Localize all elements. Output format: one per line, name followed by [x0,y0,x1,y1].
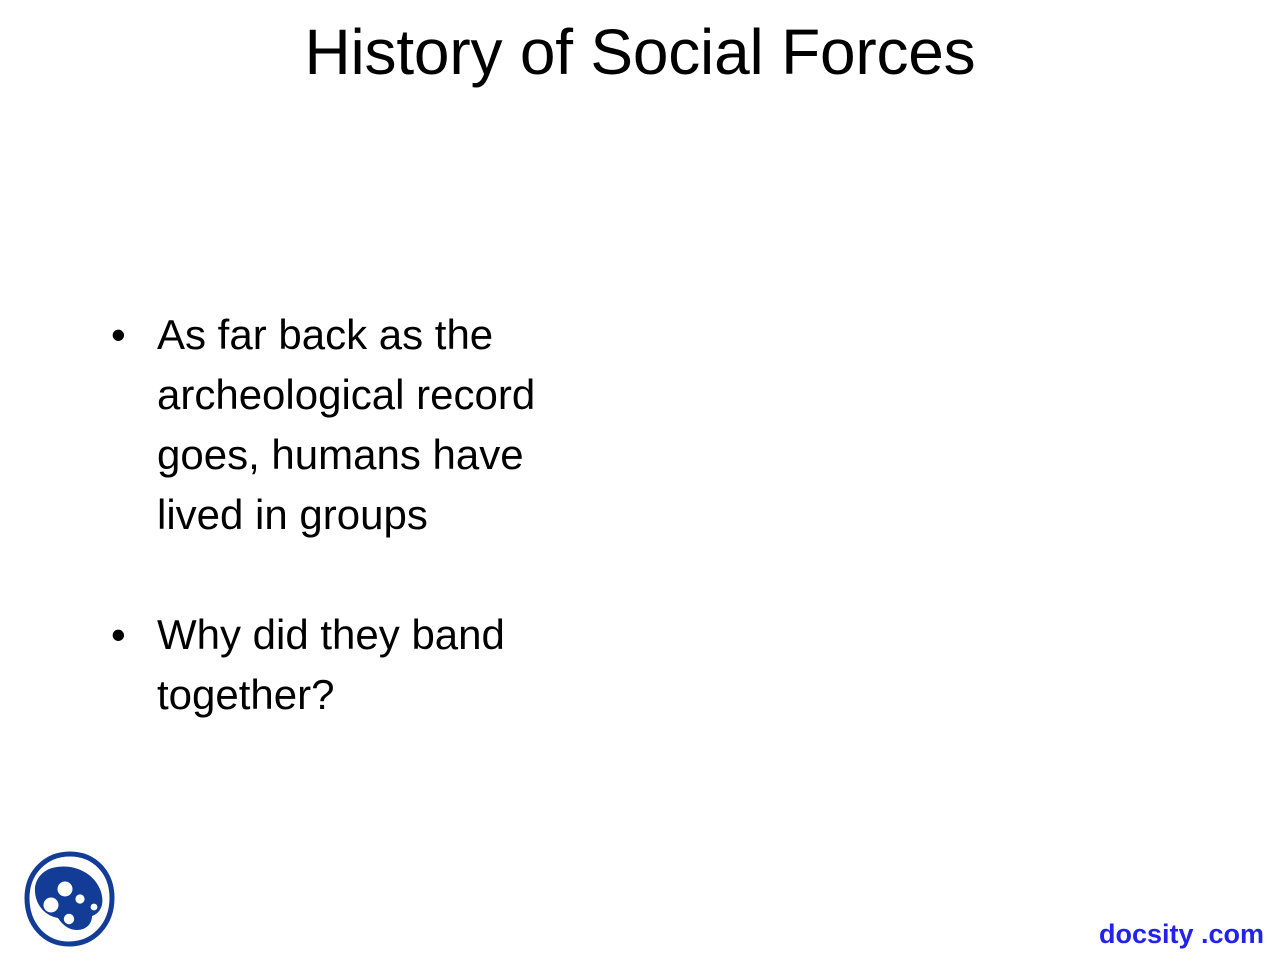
slide-canvas: History of Social Forces • As far back a… [0,0,1280,960]
slide-body: • As far back as the archeological recor… [100,305,600,725]
bullet-text: Why did they band together? [157,605,577,725]
page-title: History of Social Forces [0,14,1280,90]
bullet-point-icon: • [100,605,157,665]
bullet-text: As far back as the archeological record … [157,305,577,545]
docsity-logo-icon [22,848,118,952]
docsity-watermark: docsity .com [1099,919,1264,949]
bullet-spacer [100,545,600,605]
list-item: • Why did they band together? [100,605,600,725]
list-item: • As far back as the archeological recor… [100,305,600,545]
bullet-point-icon: • [100,305,157,365]
